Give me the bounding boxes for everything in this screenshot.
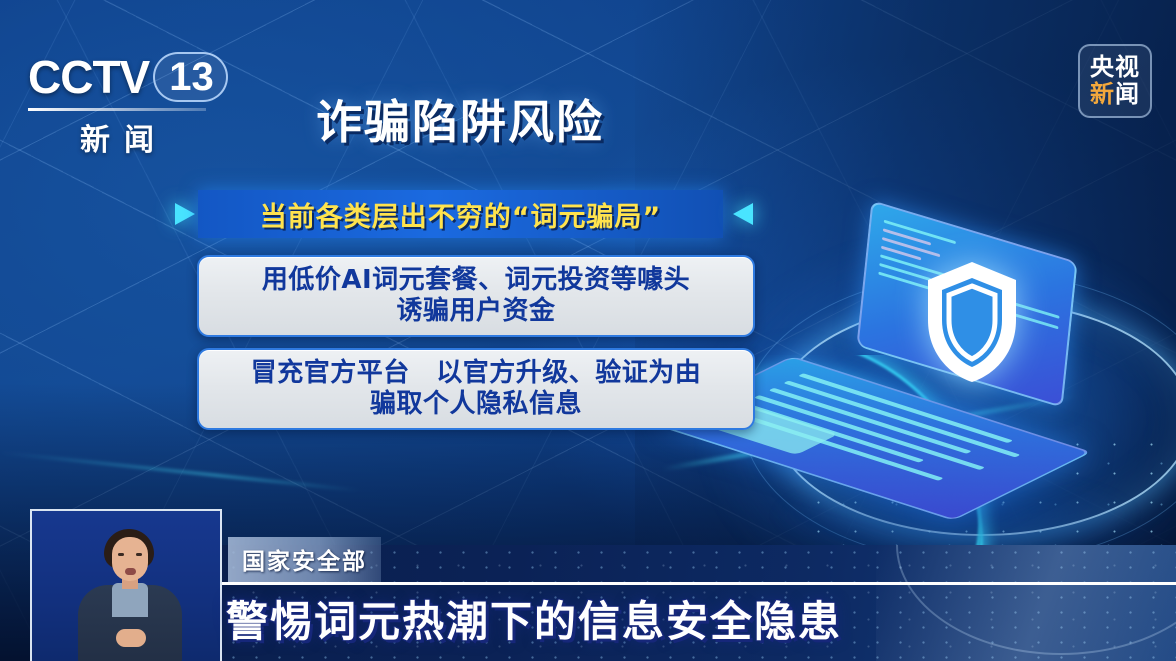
cctv-channel-logo: CCTV 13 新闻: [28, 48, 218, 148]
anchor-eye-left: [118, 553, 124, 556]
point-box-2: 冒充官方平台 以官方升级、验证为由 骗取个人隐私信息: [197, 348, 755, 430]
graphic-title: 诈骗陷阱风险: [316, 86, 604, 152]
watermark-char-xin: 新: [1090, 80, 1115, 108]
cctv-channel-number: 13: [153, 52, 228, 102]
department-tag: 国家安全部: [228, 537, 381, 582]
point-box-2-text: 冒充官方平台 以官方升级、验证为由 骗取个人隐私信息: [251, 358, 702, 419]
watermark-line-2: 新闻: [1090, 82, 1140, 108]
play-triangle-left-icon: [733, 203, 753, 225]
broadcast-screen: CCTV 13 新闻 央视 新闻 诈骗陷阱风险 当前各类层出不穷的“词元骗局” …: [0, 0, 1176, 661]
point-box-1-text: 用低价AI词元套餐、词元投资等噱头 诱骗用户资金: [262, 265, 690, 326]
lower-third-sheen: [876, 545, 1176, 661]
cctv-wordmark: CCTV: [28, 50, 149, 104]
lower-third-headline: 警惕词元热潮下的信息安全隐患: [226, 588, 842, 649]
cctv-news-watermark: 央视 新闻: [1078, 44, 1152, 118]
highlight-banner: 当前各类层出不穷的“词元骗局”: [175, 190, 785, 238]
lower-third-divider: [222, 582, 1176, 585]
department-tag-text: 国家安全部: [242, 549, 367, 575]
point-box-1: 用低价AI词元套餐、词元投资等噱头 诱骗用户资金: [197, 255, 755, 337]
watermark-char-wen: 闻: [1115, 80, 1140, 108]
laptop-with-security-shield-icon: [786, 228, 1136, 538]
anchor-eye-right: [136, 553, 142, 556]
cctv-logo-underline: [28, 108, 206, 111]
highlight-banner-text: 当前各类层出不穷的“词元骗局”: [260, 195, 662, 234]
watermark-line-1: 央视: [1090, 55, 1140, 81]
news-anchor-pip: [30, 509, 222, 661]
play-triangle-right-icon: [175, 203, 195, 225]
shield-icon: [924, 258, 1020, 386]
cctv-channel-name-cn: 新闻: [28, 115, 206, 159]
anchor-mouth: [125, 568, 136, 575]
highlight-banner-bar: 当前各类层出不穷的“词元骗局”: [198, 190, 723, 238]
anchor-hands: [116, 629, 146, 647]
